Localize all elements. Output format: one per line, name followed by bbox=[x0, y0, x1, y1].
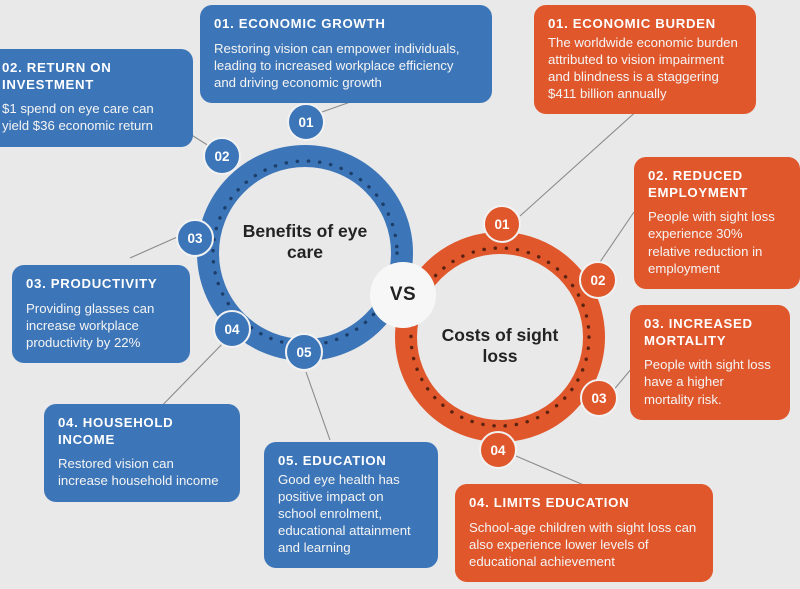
step-badge-label: 03 bbox=[187, 231, 202, 246]
card-body: Restoring vision can empower individuals… bbox=[214, 40, 478, 91]
step-badge-benefits-04[interactable]: 04 bbox=[213, 310, 251, 348]
step-badge-costs-02[interactable]: 02 bbox=[579, 261, 617, 299]
card-benefits-return-on-investment[interactable]: 02. RETURN ON INVESTMENT $1 spend on eye… bbox=[0, 49, 193, 147]
step-badge-benefits-03[interactable]: 03 bbox=[176, 219, 214, 257]
card-title: 03. PRODUCTIVITY bbox=[26, 276, 176, 293]
card-benefits-economic-growth[interactable]: 01. ECONOMIC GROWTH Restoring vision can… bbox=[200, 5, 492, 103]
step-badge-costs-04[interactable]: 04 bbox=[479, 431, 517, 469]
card-costs-limits-education[interactable]: 04. LIMITS EDUCATION School-age children… bbox=[455, 484, 713, 582]
step-badge-label: 04 bbox=[224, 322, 239, 337]
card-title: 05. EDUCATION bbox=[278, 453, 424, 470]
step-badge-label: 03 bbox=[591, 391, 606, 406]
ring-costs bbox=[406, 243, 594, 431]
card-benefits-productivity[interactable]: 03. PRODUCTIVITY Providing glasses can i… bbox=[12, 265, 190, 363]
vs-badge: VS bbox=[370, 262, 436, 328]
card-title: 04. LIMITS EDUCATION bbox=[469, 495, 699, 512]
step-badge-benefits-01[interactable]: 01 bbox=[287, 103, 325, 141]
card-body: People with sight loss have a higher mor… bbox=[644, 356, 776, 407]
card-costs-economic-burden[interactable]: 01. ECONOMIC BURDEN The worldwide econom… bbox=[534, 5, 756, 114]
step-badge-costs-01[interactable]: 01 bbox=[483, 205, 521, 243]
card-body: Providing glasses can increase workplace… bbox=[26, 300, 176, 351]
card-benefits-household-income[interactable]: 04. HOUSEHOLD INCOME Restored vision can… bbox=[44, 404, 240, 502]
card-body: Restored vision can increase household i… bbox=[58, 455, 226, 489]
card-title: 02. RETURN ON INVESTMENT bbox=[2, 60, 179, 93]
step-badge-costs-03[interactable]: 03 bbox=[580, 379, 618, 417]
card-title: 03. INCREASED MORTALITY bbox=[644, 316, 776, 349]
card-title: 02. REDUCED EMPLOYMENT bbox=[648, 168, 786, 201]
card-body: $1 spend on eye care can yield $36 econo… bbox=[2, 100, 179, 134]
step-badge-label: 02 bbox=[214, 149, 229, 164]
card-body: People with sight loss experience 30% re… bbox=[648, 208, 786, 277]
card-benefits-education[interactable]: 05. EDUCATION Good eye health has positi… bbox=[264, 442, 438, 568]
step-badge-label: 02 bbox=[590, 273, 605, 288]
card-costs-reduced-employment[interactable]: 02. REDUCED EMPLOYMENT People with sight… bbox=[634, 157, 800, 289]
infographic-canvas: Benefits of eye care Costs of sight loss… bbox=[0, 0, 800, 589]
step-badge-benefits-02[interactable]: 02 bbox=[203, 137, 241, 175]
step-badge-label: 05 bbox=[296, 345, 311, 360]
card-title: 01. ECONOMIC BURDEN bbox=[548, 16, 742, 33]
card-body: School-age children with sight loss can … bbox=[469, 519, 699, 570]
vs-label: VS bbox=[390, 284, 416, 306]
card-title: 04. HOUSEHOLD INCOME bbox=[58, 415, 226, 448]
card-costs-increased-mortality[interactable]: 03. INCREASED MORTALITY People with sigh… bbox=[630, 305, 790, 420]
card-body: Good eye health has positive impact on s… bbox=[278, 471, 424, 557]
step-badge-benefits-05[interactable]: 05 bbox=[285, 333, 323, 371]
step-badge-label: 01 bbox=[494, 217, 509, 232]
step-badge-label: 04 bbox=[490, 443, 505, 458]
card-body: The worldwide economic burden attributed… bbox=[548, 34, 742, 103]
step-badge-label: 01 bbox=[298, 115, 313, 130]
card-title: 01. ECONOMIC GROWTH bbox=[214, 16, 478, 33]
